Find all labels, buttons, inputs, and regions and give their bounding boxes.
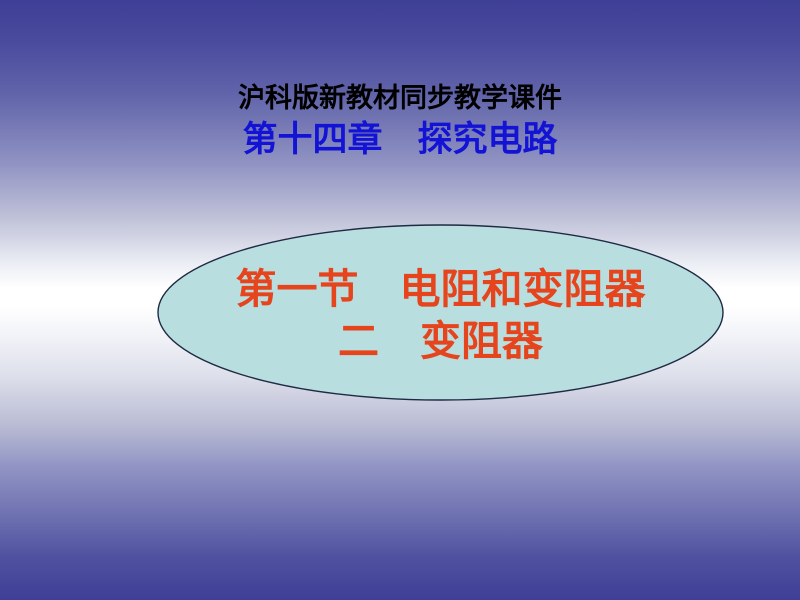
presentation-slide: 沪科版新教材同步教学课件 第十四章 探究电路 第一节 电阻和变阻器 二 变阻器	[0, 0, 800, 600]
ellipse-text-block: 第一节 电阻和变阻器 二 变阻器	[157, 224, 724, 401]
chapter-title: 第十四章 探究电路	[0, 117, 800, 163]
section-title: 第一节 电阻和变阻器	[236, 264, 646, 314]
subject-line: 沪科版新教材同步教学课件	[0, 82, 800, 116]
slide-heading-block: 沪科版新教材同步教学课件 第十四章 探究电路	[0, 82, 800, 163]
title-ellipse-shape: 第一节 电阻和变阻器 二 变阻器	[157, 224, 724, 401]
topic-title: 二 变阻器	[338, 316, 543, 366]
